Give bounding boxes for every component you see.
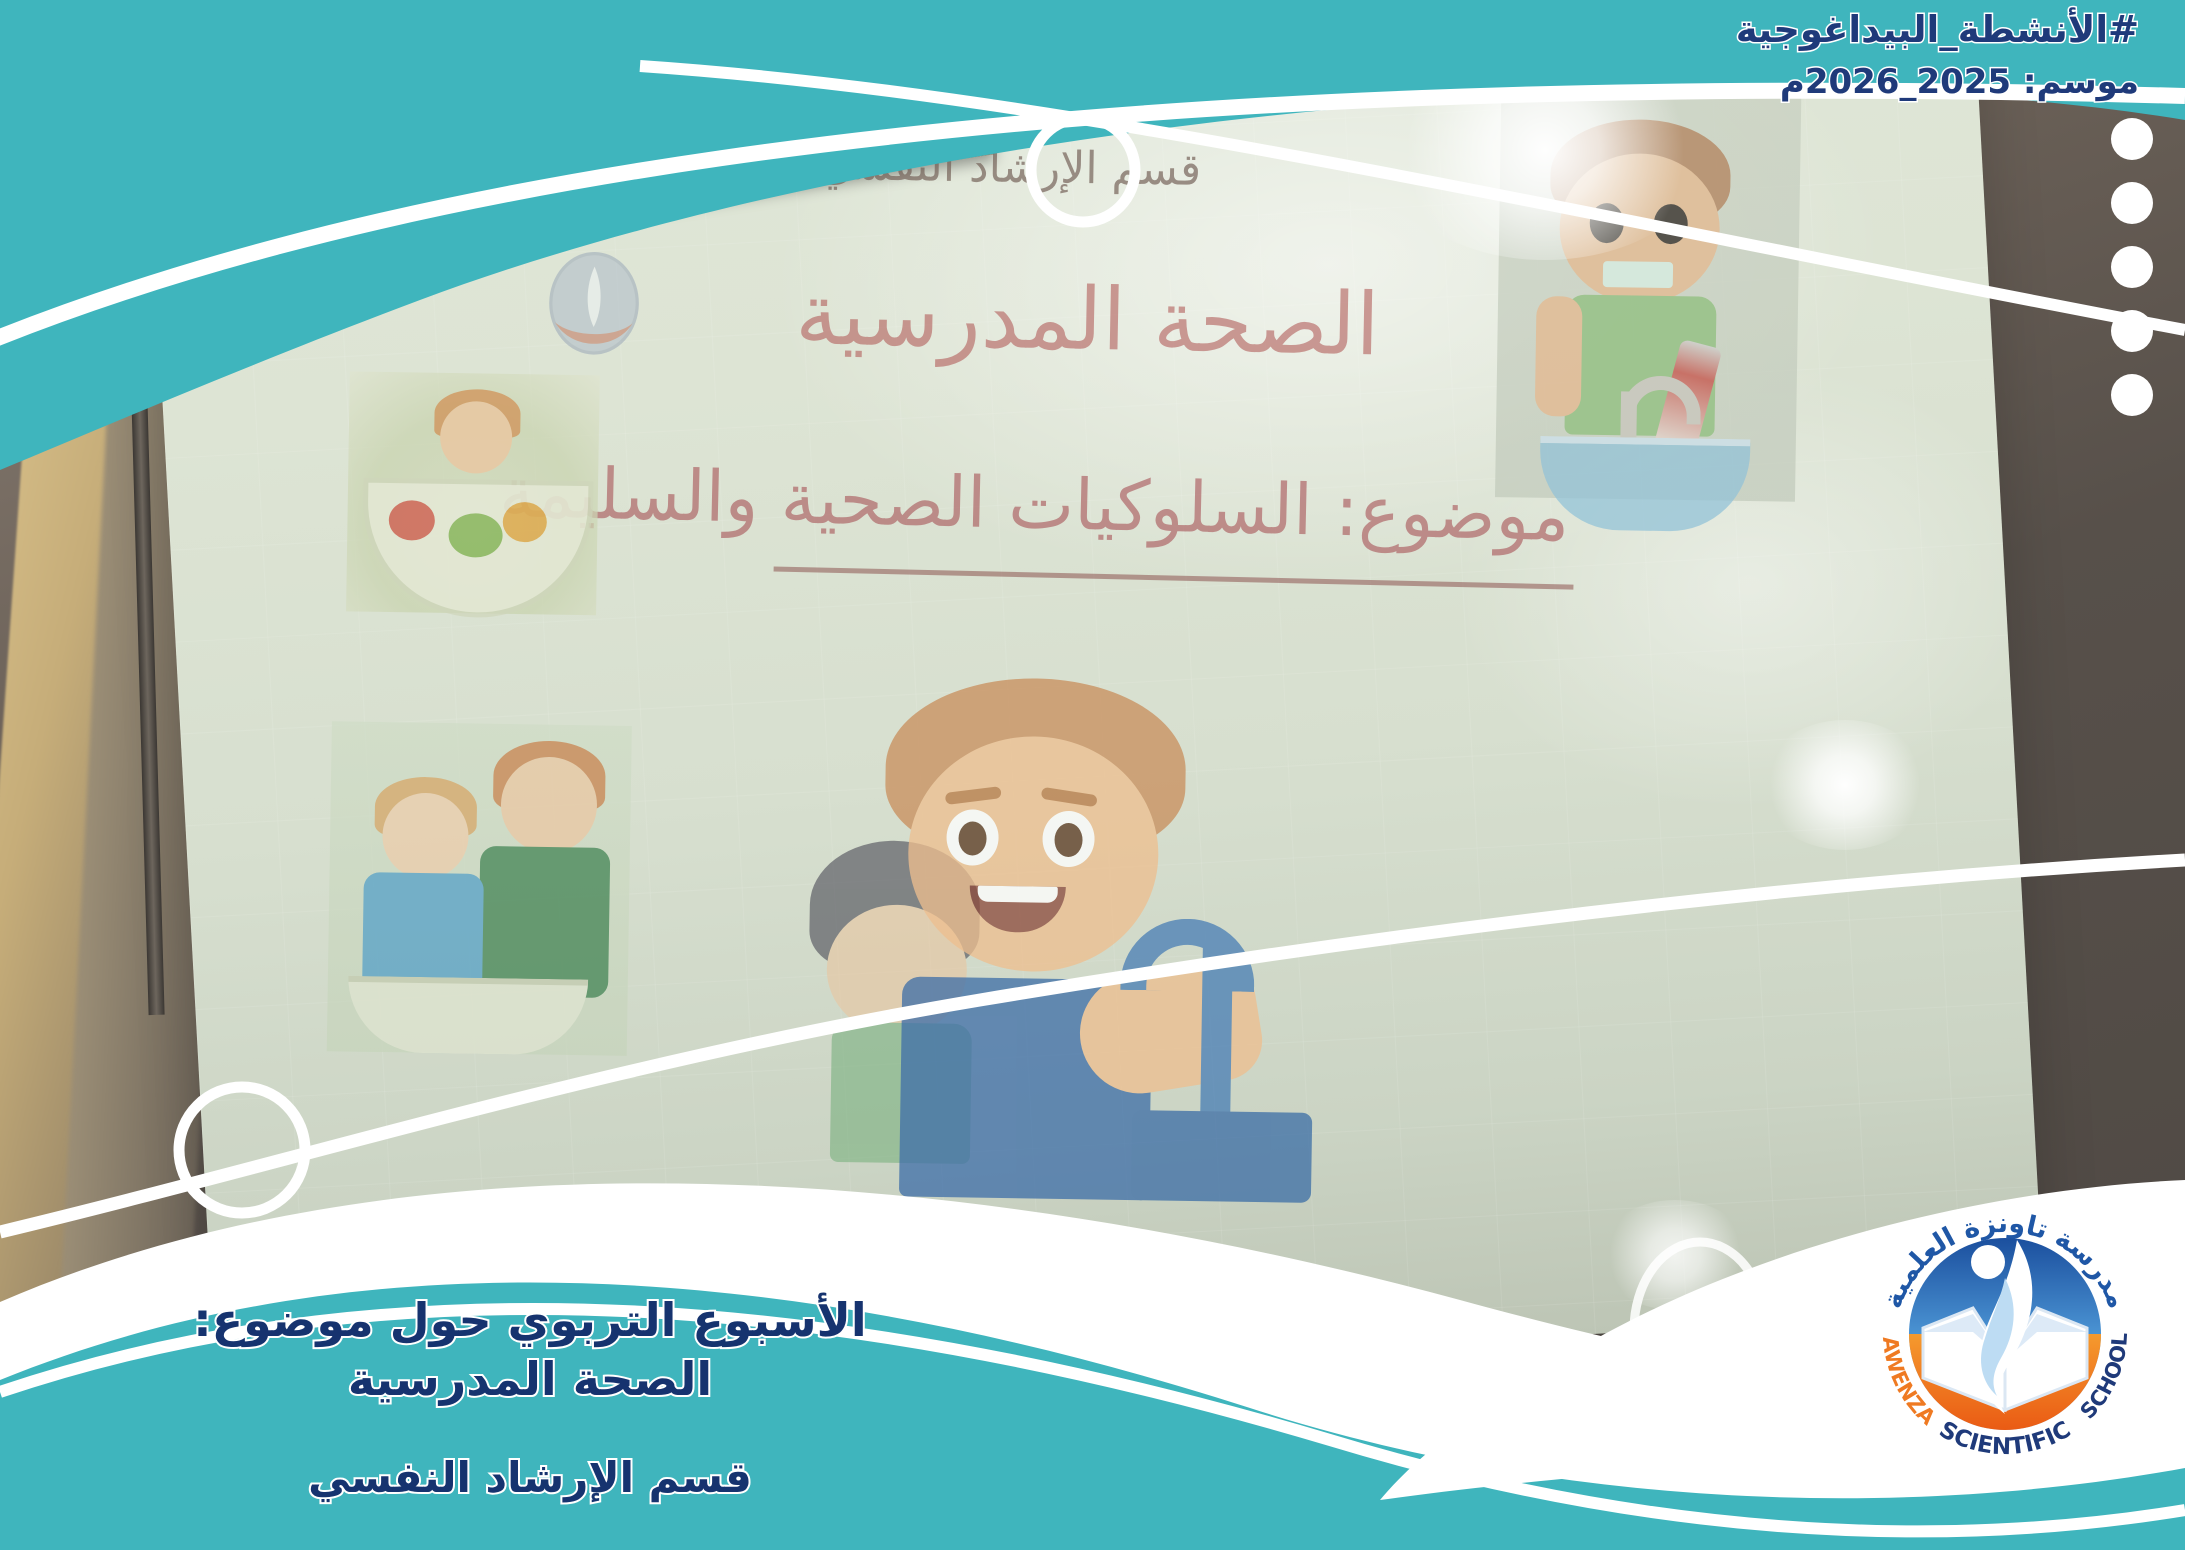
salad-illustration <box>351 381 595 615</box>
caption-department: قسم الإرشاد النفسي <box>150 1453 910 1502</box>
decorative-dot <box>2111 310 2153 352</box>
slide-department-label: قسم الإرشاد النفسي <box>818 139 1202 196</box>
wall-poster-text: نظافة قسمي <box>468 0 706 34</box>
decorative-dot <box>2111 246 2153 288</box>
decorative-dot <box>2111 182 2153 224</box>
hashtag-label: #الأنشطة_البيداغوجية <box>1736 8 2139 52</box>
school-logo: مدرسة تاونزة العلمية TAWENZA SCIENTIFIC … <box>1855 1182 2155 1482</box>
decorative-dot <box>2111 374 2153 416</box>
slide-subject-underline <box>774 567 1574 590</box>
slide-content: قسم الإرشاد النفسي الصحة المدرسية موضوع:… <box>146 0 2045 1409</box>
poster-canvas: في الصف بانتظام نظافة قسمي <box>0 0 2185 1550</box>
caption-line-1: الأسبوع التربوي حول موضوع: <box>150 1291 910 1350</box>
slide-emblem-icon <box>539 246 649 368</box>
slide-title: الصحة المدرسية <box>794 264 1380 375</box>
slide-subject: موضوع: السلوكيات الصحية والسليمة <box>498 451 1570 557</box>
season-label: موسم: 2025_2026م <box>1736 62 2139 102</box>
logo-person-head <box>1971 1245 2005 1279</box>
kids-cooking-illustration <box>327 732 622 1057</box>
decorative-dot <box>2111 118 2153 160</box>
header-text-block: #الأنشطة_البيداغوجية موسم: 2025_2026م <box>1736 8 2139 102</box>
decorative-dot-column <box>2111 118 2153 416</box>
brushing-teeth-illustration <box>1527 118 1763 522</box>
handwashing-illustration <box>869 676 1347 1203</box>
caption-line-2: الصحة المدرسية <box>150 1350 910 1409</box>
caption-block: الأسبوع التربوي حول موضوع: الصحة المدرسي… <box>150 1291 910 1502</box>
